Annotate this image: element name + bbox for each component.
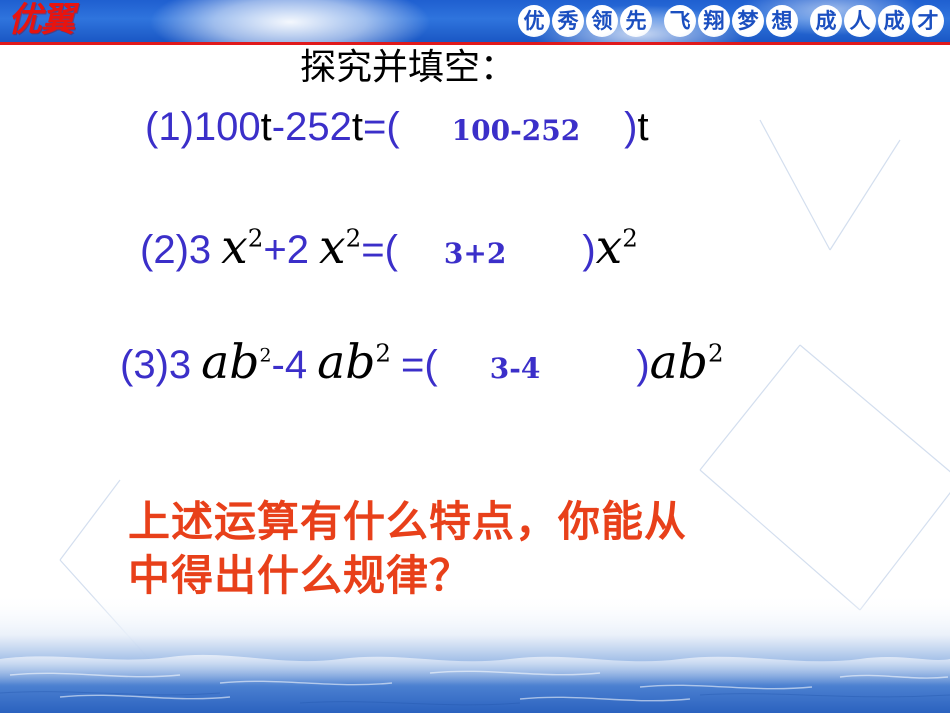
equation-3-coef1: 3 bbox=[169, 343, 191, 388]
equation-2-result-term: x2 bbox=[596, 220, 638, 275]
equation-1-term2: t bbox=[352, 105, 363, 150]
equation-3-result-term: ab2 bbox=[650, 335, 724, 390]
equation-3-term2: ab2 bbox=[317, 335, 391, 390]
slogan-char: 翔 bbox=[698, 5, 730, 37]
slogan-char: 梦 bbox=[732, 5, 764, 37]
equation-1-equals-open-paren: =( bbox=[363, 105, 400, 150]
equation-2-term2: x2 bbox=[319, 220, 361, 275]
equation-row-1: (1) 100 t - 252 t =( 100-252 ) t bbox=[145, 105, 649, 150]
slogan-char: 飞 bbox=[664, 5, 696, 37]
reflection-question: 上述运算有什么特点，你能从 中得出什么规律？ bbox=[128, 495, 848, 603]
equation-2-term1: x2 bbox=[221, 220, 263, 275]
slide-body: 探究并填空： (1) 100 t - 252 t =( 100-252 ) t … bbox=[0, 45, 950, 713]
equation-3-equals-open-paren: =( bbox=[401, 343, 438, 388]
page-title: 探究并填空： bbox=[300, 48, 516, 88]
equation-1-term1: t bbox=[261, 105, 272, 150]
brand-logo: 优翼 bbox=[8, 0, 74, 42]
slogan-char: 领 bbox=[586, 5, 618, 37]
slogan-char: 想 bbox=[766, 5, 798, 37]
slogan-group-3: 成 人 成 才 bbox=[810, 5, 944, 37]
equation-2-result-exponent: 2 bbox=[622, 223, 638, 252]
equation-3-term1-base: ab bbox=[201, 335, 259, 390]
equation-2-coef2: 2 bbox=[287, 228, 309, 273]
equation-1-operator: - bbox=[272, 105, 285, 150]
equation-2-answer: 3+2 bbox=[444, 237, 506, 270]
reflection-question-line-2: 中得出什么规律？ bbox=[128, 549, 848, 603]
equation-3-term2-exponent: 2 bbox=[375, 338, 391, 367]
equation-2-term1-exponent: 2 bbox=[248, 223, 264, 252]
equation-3-term1-exponent: 2 bbox=[259, 344, 271, 366]
equation-3-result-base: ab bbox=[650, 335, 708, 390]
equation-3-operator: - bbox=[272, 343, 285, 388]
equation-row-3: (3) 3 ab2 - 4 ab2 =( 3-4 ) ab2 bbox=[120, 335, 724, 390]
equation-3-term2-base: ab bbox=[317, 335, 375, 390]
equation-1-coef2: 252 bbox=[285, 105, 352, 150]
header-red-rule bbox=[0, 42, 950, 45]
slogan-char: 先 bbox=[620, 5, 652, 37]
equation-2-operator: + bbox=[263, 228, 286, 273]
slogan-char: 成 bbox=[878, 5, 910, 37]
slogan-char: 优 bbox=[518, 5, 550, 37]
equation-3-answer: 3-4 bbox=[490, 352, 541, 385]
equation-3-label: (3) bbox=[120, 343, 169, 388]
equation-1-answer: 100-252 bbox=[452, 114, 581, 147]
slogan-group-1: 优 秀 领 先 bbox=[518, 5, 652, 37]
equation-2-label: (2) bbox=[140, 228, 189, 273]
equation-3-close-paren: ) bbox=[636, 343, 649, 388]
equation-1-label: (1) bbox=[145, 105, 194, 150]
equation-3-result-exponent: 2 bbox=[708, 338, 724, 367]
equation-2-term2-exponent: 2 bbox=[346, 223, 362, 252]
equation-1-close-paren: ) bbox=[624, 105, 637, 150]
slide-canvas: 优翼 优 秀 领 先 飞 翔 梦 想 成 人 成 才 bbox=[0, 0, 950, 713]
slogan-char: 才 bbox=[912, 5, 944, 37]
brand-logo-text: 优翼 bbox=[8, 3, 74, 37]
equation-1-result-term: t bbox=[638, 105, 649, 150]
equation-2-result-base: x bbox=[596, 220, 623, 275]
slogan-strip: 优 秀 领 先 飞 翔 梦 想 成 人 成 才 bbox=[518, 0, 944, 42]
equation-2-equals-open-paren: =( bbox=[361, 228, 398, 273]
equation-1-coef1: 100 bbox=[194, 105, 261, 150]
slogan-char: 成 bbox=[810, 5, 842, 37]
equation-2-term1-base: x bbox=[221, 220, 248, 275]
equation-3-coef2: 4 bbox=[285, 343, 307, 388]
slogan-char: 人 bbox=[844, 5, 876, 37]
equation-2-coef1: 3 bbox=[189, 228, 211, 273]
equation-row-2: (2) 3 x2 + 2 x2 =( 3+2 ) x2 bbox=[140, 220, 638, 275]
equation-3-term1: ab2 bbox=[201, 335, 271, 390]
equation-2-close-paren: ) bbox=[582, 228, 595, 273]
reflection-question-line-1: 上述运算有什么特点，你能从 bbox=[128, 495, 848, 549]
slogan-group-2: 飞 翔 梦 想 bbox=[664, 5, 798, 37]
header-banner: 优翼 优 秀 领 先 飞 翔 梦 想 成 人 成 才 bbox=[0, 0, 950, 45]
equation-2-term2-base: x bbox=[319, 220, 346, 275]
slogan-char: 秀 bbox=[552, 5, 584, 37]
